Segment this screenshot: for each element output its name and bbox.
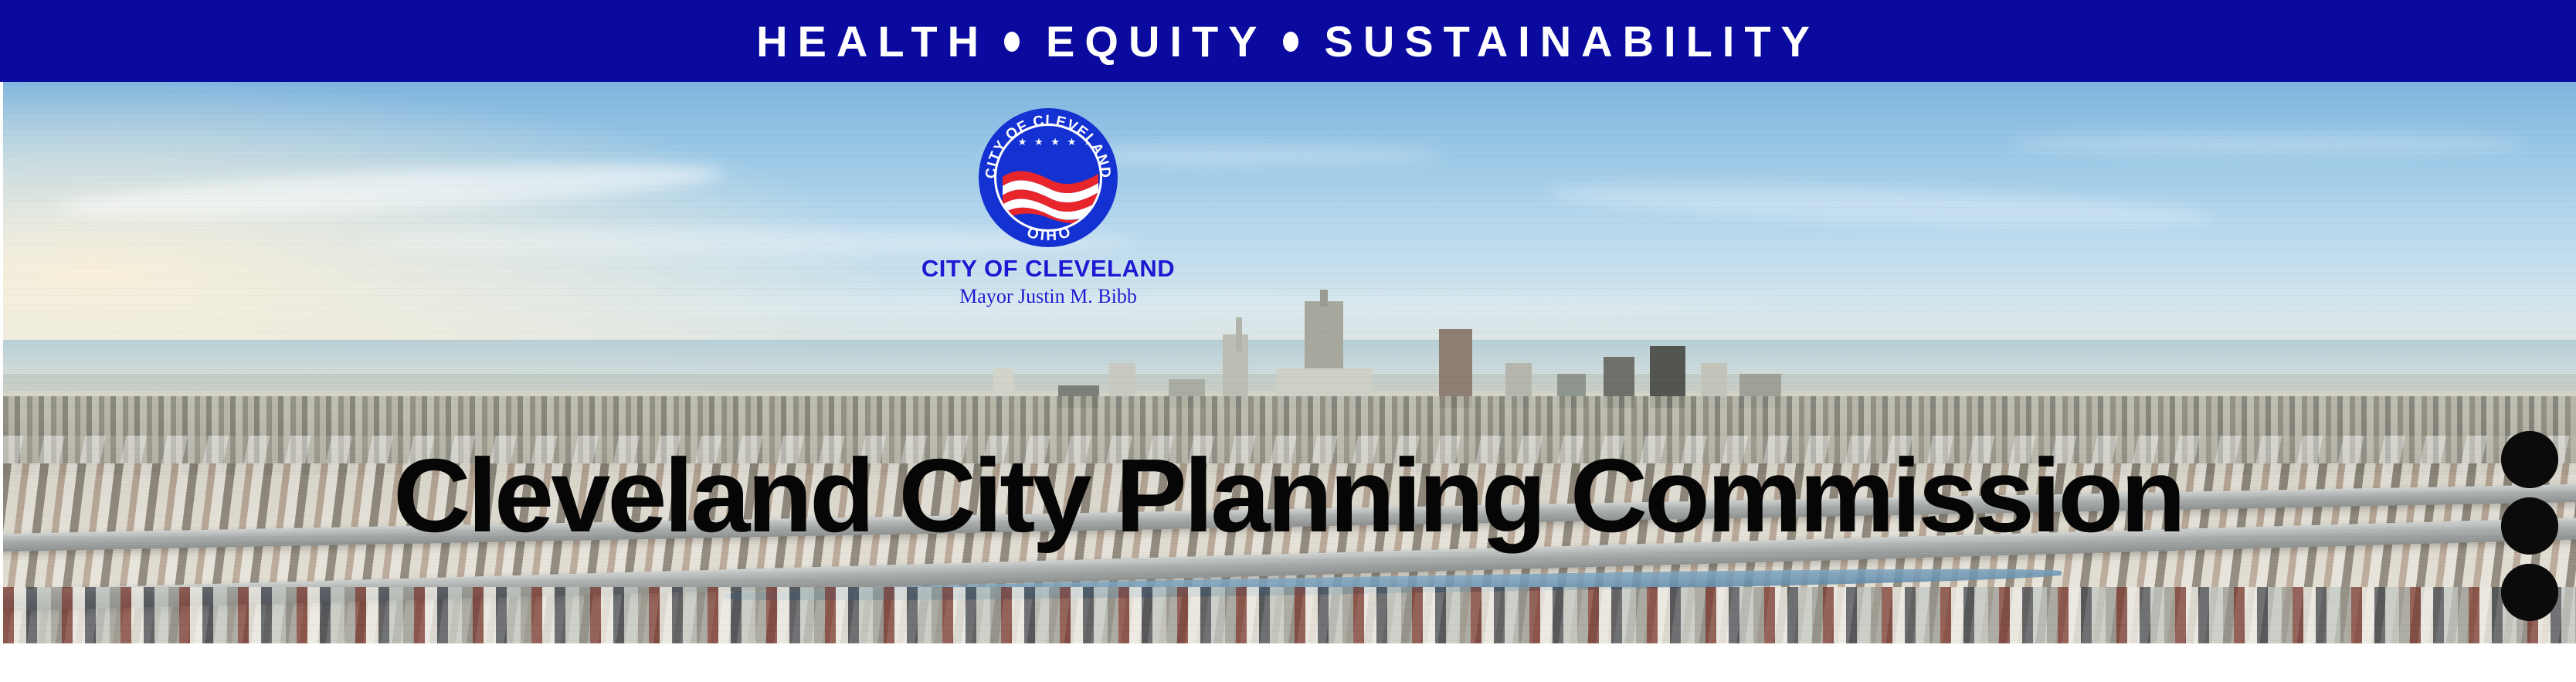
bullet-dot-icon (1283, 32, 1298, 52)
page-root: HEALTH EQUITY SUSTAINABILITY (0, 0, 2576, 682)
slogan-word-equity: EQUITY (1046, 20, 1267, 63)
bullet-dot-icon (1004, 32, 1020, 52)
seal-inner-disc: ★ ★ ★ ★ ★ ★ (994, 124, 1102, 232)
slogan-word-health: HEALTH (756, 20, 989, 63)
slogan-bar: HEALTH EQUITY SUSTAINABILITY (0, 0, 2576, 82)
instagram-icon (2501, 497, 2558, 555)
seal-stars: ★ ★ ★ ★ ★ ★ (996, 137, 1100, 147)
social-link-facebook[interactable] (2501, 564, 2558, 621)
youtube-icon (2501, 431, 2558, 488)
page-title: Cleveland City Planning Commission (0, 443, 2576, 548)
city-of-cleveland-seal-icon: CITY OF CLEVELAND OHIO ★ ★ ★ ★ ★ ★ (979, 108, 1118, 247)
social-link-instagram[interactable] (2501, 497, 2558, 555)
brand-lockup: CITY OF CLEVELAND OHIO ★ ★ ★ ★ ★ ★ (809, 108, 1288, 307)
waving-us-flag-icon (1001, 160, 1100, 223)
social-link-youtube[interactable] (2501, 431, 2558, 488)
neighborhood-houses (3, 587, 2576, 643)
hero-photo (3, 82, 2576, 643)
city-of-cleveland-label: CITY OF CLEVELAND (809, 256, 1288, 282)
mayor-name-label: Mayor Justin M. Bibb (809, 286, 1288, 308)
social-links (2501, 431, 2558, 621)
slogan-inner: HEALTH EQUITY SUSTAINABILITY (756, 20, 1820, 63)
facebook-icon (2501, 564, 2558, 621)
slogan-word-sustainability: SUSTAINABILITY (1325, 20, 1820, 63)
